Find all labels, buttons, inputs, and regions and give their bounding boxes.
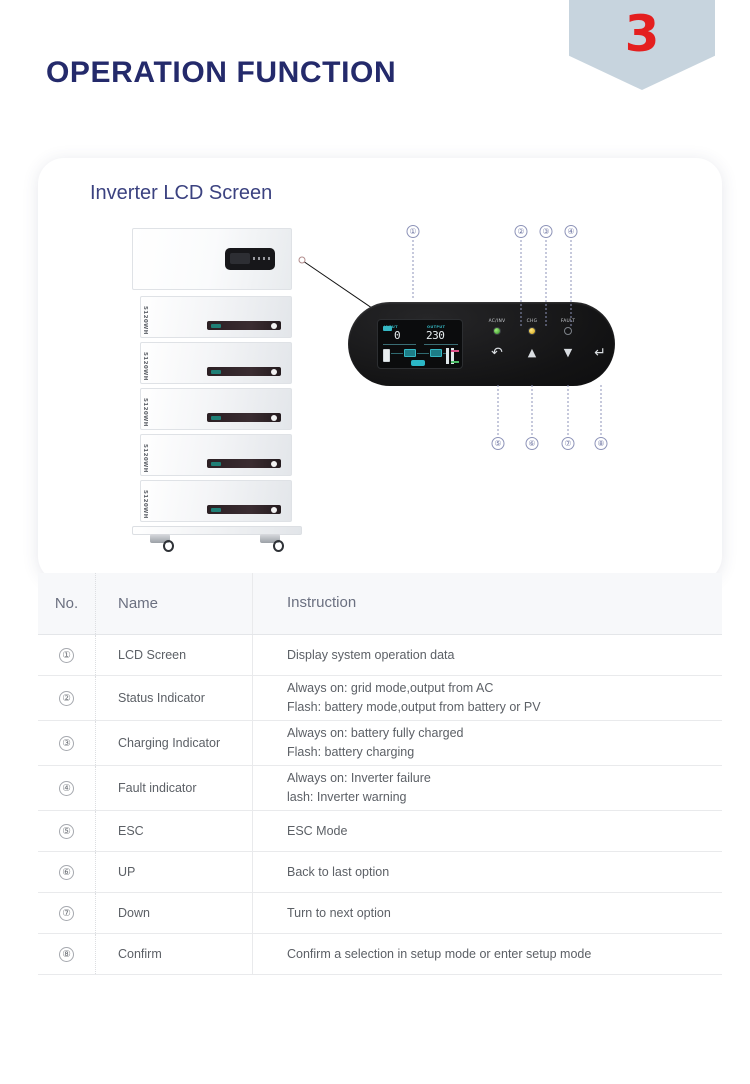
inverter-lcd-card: Inverter LCD Screen 5120WH 5120WH 5120WH [38, 158, 722, 582]
callout-6: ⑥ [526, 437, 539, 450]
column-header-name: Name [96, 573, 253, 634]
stack-lcd-module [225, 248, 275, 270]
led-label-fault: FAULT [561, 319, 575, 324]
row-number: ⑧ [38, 934, 96, 974]
battery-module: 5120WH [140, 480, 292, 522]
row-number-badge: ⑦ [59, 906, 74, 921]
table-row: ① LCD Screen Display system operation da… [38, 635, 722, 676]
table-row: ⑧ Confirm Confirm a selection in setup m… [38, 934, 722, 975]
callout-1: ① [407, 225, 420, 238]
battery-stack-illustration: 5120WH 5120WH 5120WH 5120WH 5120WH [132, 228, 302, 490]
row-name: Down [96, 893, 253, 933]
table-row: ⑥ UP Back to last option [38, 852, 722, 893]
row-name: Fault indicator [96, 766, 253, 810]
row-number-badge: ① [59, 648, 74, 663]
lcd-converter-icon [404, 349, 416, 357]
confirm-button[interactable]: ↵ [594, 346, 606, 360]
callout-7: ⑦ [562, 437, 575, 450]
row-instruction: ESC Mode [253, 811, 722, 851]
lcd-flow-wire [417, 353, 429, 354]
row-number-badge: ④ [59, 781, 74, 796]
callout-7-line [568, 385, 569, 436]
callout-5: ⑤ [492, 437, 505, 450]
battery-capacity-label: 5120WH [142, 306, 148, 335]
row-instruction: Back to last option [253, 852, 722, 892]
row-instruction: Display system operation data [253, 635, 722, 675]
callout-8: ⑧ [595, 437, 608, 450]
inverter-diagram: 5120WH 5120WH 5120WH 5120WH 5120WH [38, 228, 722, 578]
row-number: ⑦ [38, 893, 96, 933]
lcd-flow-wire [391, 353, 403, 354]
row-name: LCD Screen [96, 635, 253, 675]
row-instruction: Confirm a selection in setup mode or ent… [253, 934, 722, 974]
table-row: ③ Charging Indicator Always on: battery … [38, 721, 722, 766]
led-label-ac-inv: AC/INV [489, 319, 506, 324]
battery-capacity-label: 5120WH [142, 352, 148, 381]
row-number: ⑥ [38, 852, 96, 892]
row-number: ⑤ [38, 811, 96, 851]
row-instruction: Always on: Inverter failure lash: Invert… [253, 766, 722, 810]
caster-wheel [260, 534, 282, 552]
row-number-badge: ⑤ [59, 824, 74, 839]
battery-module: 5120WH [140, 342, 292, 384]
table-row: ⑤ ESC ESC Mode [38, 811, 722, 852]
callout-4-line [571, 240, 572, 326]
ac-inv-led [493, 327, 501, 335]
row-instruction: Always on: battery fully charged Flash: … [253, 721, 722, 765]
lcd-screen[interactable]: INPUT OUTPUT 0 230 [377, 319, 463, 369]
callout-3-line [546, 240, 547, 326]
section-number: 3 [625, 0, 660, 59]
lcd-battery-icon [383, 326, 392, 331]
page-title: OPERATION FUNCTION [46, 56, 396, 90]
battery-port-strip [207, 459, 281, 468]
row-number-badge: ⑥ [59, 865, 74, 880]
stack-lcd-screen [230, 253, 250, 264]
battery-capacity-label: 5120WH [142, 490, 148, 519]
battery-capacity-label: 5120WH [142, 398, 148, 427]
lcd-warning-bar [451, 350, 459, 352]
esc-button[interactable]: ↶ [491, 346, 503, 360]
lcd-divider [424, 344, 458, 345]
row-name: Status Indicator [96, 676, 253, 720]
lcd-pv-panel-icon [383, 349, 390, 362]
battery-capacity-label: 5120WH [142, 444, 148, 473]
table-header-row: No. Name Instruction [38, 573, 722, 635]
battery-top-unit [132, 228, 292, 290]
row-number-badge: ⑧ [59, 947, 74, 962]
lcd-input-value: 0 [394, 330, 400, 341]
battery-port-strip [207, 505, 281, 514]
lcd-inverter-icon [430, 349, 442, 357]
led-label-chg: CHG [527, 319, 538, 324]
page-header: 3 OPERATION FUNCTION [0, 0, 750, 130]
row-number: ② [38, 676, 96, 720]
row-number-badge: ③ [59, 736, 74, 751]
caster-wheel [150, 534, 172, 552]
chg-led [528, 327, 536, 335]
inverter-front-panel: INPUT OUTPUT 0 230 AC/INV [348, 302, 615, 386]
callout-4: ④ [565, 225, 578, 238]
stack-lcd-vents [253, 257, 270, 260]
column-header-instruction: Instruction [253, 573, 722, 634]
lcd-output-value: 230 [426, 330, 444, 341]
callout-2-line [521, 240, 522, 326]
battery-module: 5120WH [140, 388, 292, 430]
row-name: UP [96, 852, 253, 892]
function-table: No. Name Instruction ① LCD Screen Displa… [38, 573, 722, 975]
lcd-status-bar [451, 361, 459, 363]
battery-port-strip [207, 321, 281, 330]
battery-port-strip [207, 367, 281, 376]
battery-module: 5120WH [140, 434, 292, 476]
battery-port-strip [207, 413, 281, 422]
row-instruction: Turn to next option [253, 893, 722, 933]
fault-led [564, 327, 572, 335]
callout-8-line [601, 385, 602, 436]
row-name: Charging Indicator [96, 721, 253, 765]
callout-3: ③ [540, 225, 553, 238]
lcd-battery-bank-icon [411, 360, 425, 366]
row-number: ④ [38, 766, 96, 810]
callout-6-line [532, 385, 533, 436]
section-number-badge: 3 [569, 0, 715, 90]
table-row: ④ Fault indicator Always on: Inverter fa… [38, 766, 722, 811]
row-number: ① [38, 635, 96, 675]
row-number: ③ [38, 721, 96, 765]
row-number-badge: ② [59, 691, 74, 706]
column-header-no: No. [38, 573, 96, 634]
down-button[interactable]: ▼ [564, 347, 572, 358]
row-name: Confirm [96, 934, 253, 974]
callout-2: ② [515, 225, 528, 238]
callout-1-line [413, 240, 414, 300]
battery-module: 5120WH [140, 296, 292, 338]
row-instruction: Always on: grid mode,output from AC Flas… [253, 676, 722, 720]
callout-5-line [498, 385, 499, 436]
card-title: Inverter LCD Screen [90, 182, 272, 205]
up-button[interactable]: ▲ [528, 347, 536, 358]
row-name: ESC [96, 811, 253, 851]
table-row: ② Status Indicator Always on: grid mode,… [38, 676, 722, 721]
lcd-divider [383, 344, 416, 345]
table-row: ⑦ Down Turn to next option [38, 893, 722, 934]
